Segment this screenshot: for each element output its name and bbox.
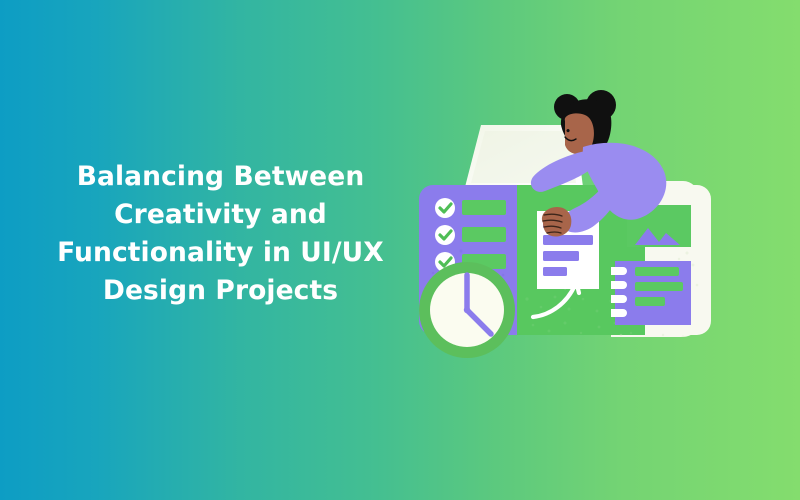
checklist-items [435,198,506,272]
workspace-productivity-illustration [415,85,715,355]
clock-icon [419,262,515,358]
banner: Balancing Between Creativity and Functio… [0,0,800,500]
title-line-1: Balancing Between [48,158,393,196]
list-block [605,261,691,325]
title-line-2: Creativity and [48,196,393,234]
check-row-1 [435,198,506,218]
title-line-3: Functionality in UI/UX [48,234,393,272]
hand [542,207,571,237]
check-row-2 [435,225,506,245]
title-line-4: Design Projects [48,272,393,310]
page-title: Balancing Between Creativity and Functio… [48,158,393,310]
